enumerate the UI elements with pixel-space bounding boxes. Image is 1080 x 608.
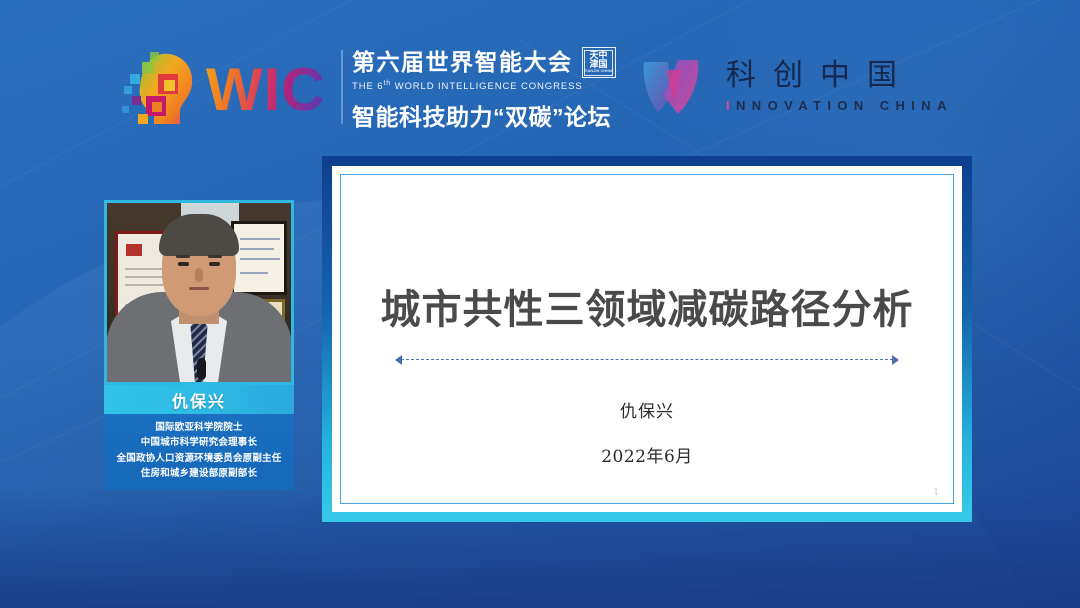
speaker-title-item: 住房和城乡建设部原副部长 bbox=[108, 466, 290, 481]
slide-frame: 城市共性三领域减碳路径分析 仇保兴 2022年6月 1 bbox=[322, 156, 972, 522]
speaker-mouth bbox=[189, 287, 209, 290]
slide-canvas[interactable]: 城市共性三领域减碳路径分析 仇保兴 2022年6月 1 bbox=[340, 174, 954, 504]
speaker-microphone-icon bbox=[197, 358, 206, 380]
congress-title-cn: 第六届世界智能大会 bbox=[352, 50, 573, 76]
speaker-eyebrow-right bbox=[208, 255, 222, 258]
wic-title-block: 第六届世界智能大会 天中 津国 TIANJIN CHINA THE 6th WO… bbox=[352, 47, 616, 132]
speaker-nose bbox=[195, 268, 203, 282]
slide-subtitle-block: 仇保兴 2022年6月 bbox=[341, 397, 953, 467]
speaker-panel: 仇保兴 国际欧亚科学院院士 中国城市科学研究会理事长 全国政协人口资源环境委员会… bbox=[104, 200, 294, 490]
speaker-titles-list: 国际欧亚科学院院士 中国城市科学研究会理事长 全国政协人口资源环境委员会原副主任… bbox=[104, 414, 294, 490]
innovation-china-en: INNOVATION CHINA bbox=[726, 98, 953, 113]
wic-wordmark: WIC bbox=[206, 60, 326, 120]
forum-title: 智能科技助力“双碳”论坛 bbox=[352, 98, 616, 132]
speaker-name-bar: 仇保兴 bbox=[104, 385, 294, 414]
wic-pixel-head-icon bbox=[118, 44, 210, 132]
slide-title: 城市共性三领域减碳路径分析 bbox=[341, 277, 953, 335]
underline-dashed-line bbox=[401, 359, 893, 360]
congress-title-row: 第六届世界智能大会 天中 津国 TIANJIN CHINA bbox=[352, 47, 616, 78]
header-divider bbox=[341, 50, 343, 124]
speaker-eyebrow-left bbox=[176, 255, 190, 258]
speaker-title-item: 中国城市科学研究会理事长 bbox=[108, 435, 290, 450]
innovation-china-cn: 科创中国 bbox=[726, 61, 953, 91]
congress-title-en: THE 6th WORLD INTELLIGENCE CONGRESS bbox=[352, 80, 616, 92]
speaker-eye-left bbox=[178, 262, 189, 266]
speaker-title-item: 国际欧亚科学院院士 bbox=[108, 420, 290, 435]
innovation-china-logo: 科创中国 INNOVATION CHINA bbox=[638, 56, 953, 118]
slide-title-underline bbox=[395, 355, 899, 365]
speaker-eye-right bbox=[209, 262, 220, 266]
slide-page-number: 1 bbox=[933, 488, 939, 498]
presentation-stage: WIC 第六届世界智能大会 天中 津国 TIANJIN CHINA THE 6t… bbox=[0, 0, 1080, 608]
wic-logo: WIC bbox=[118, 44, 326, 132]
underline-arrow-right bbox=[892, 355, 899, 365]
innovation-china-text: 科创中国 INNOVATION CHINA bbox=[726, 61, 953, 113]
innovation-china-butterfly-icon bbox=[638, 56, 704, 118]
underline-arrow-left bbox=[395, 355, 402, 365]
header-bar: WIC 第六届世界智能大会 天中 津国 TIANJIN CHINA THE 6t… bbox=[0, 0, 1080, 150]
slide-date: 2022年6月 bbox=[341, 442, 953, 467]
speaker-name: 仇保兴 bbox=[172, 388, 226, 412]
tianjin-china-seal-icon: 天中 津国 TIANJIN CHINA bbox=[582, 47, 616, 78]
slide-presenter-name: 仇保兴 bbox=[341, 397, 953, 422]
speaker-video-feed[interactable] bbox=[104, 200, 294, 385]
slide-frame-inner-white: 城市共性三领域减碳路径分析 仇保兴 2022年6月 1 bbox=[332, 166, 962, 512]
speaker-title-item: 全国政协人口资源环境委员会原副主任 bbox=[108, 451, 290, 466]
backdrop-certificate-right-top bbox=[231, 221, 287, 295]
seal-line-2: 津国 bbox=[589, 60, 607, 69]
seal-line-3: TIANJIN CHINA bbox=[584, 70, 613, 74]
